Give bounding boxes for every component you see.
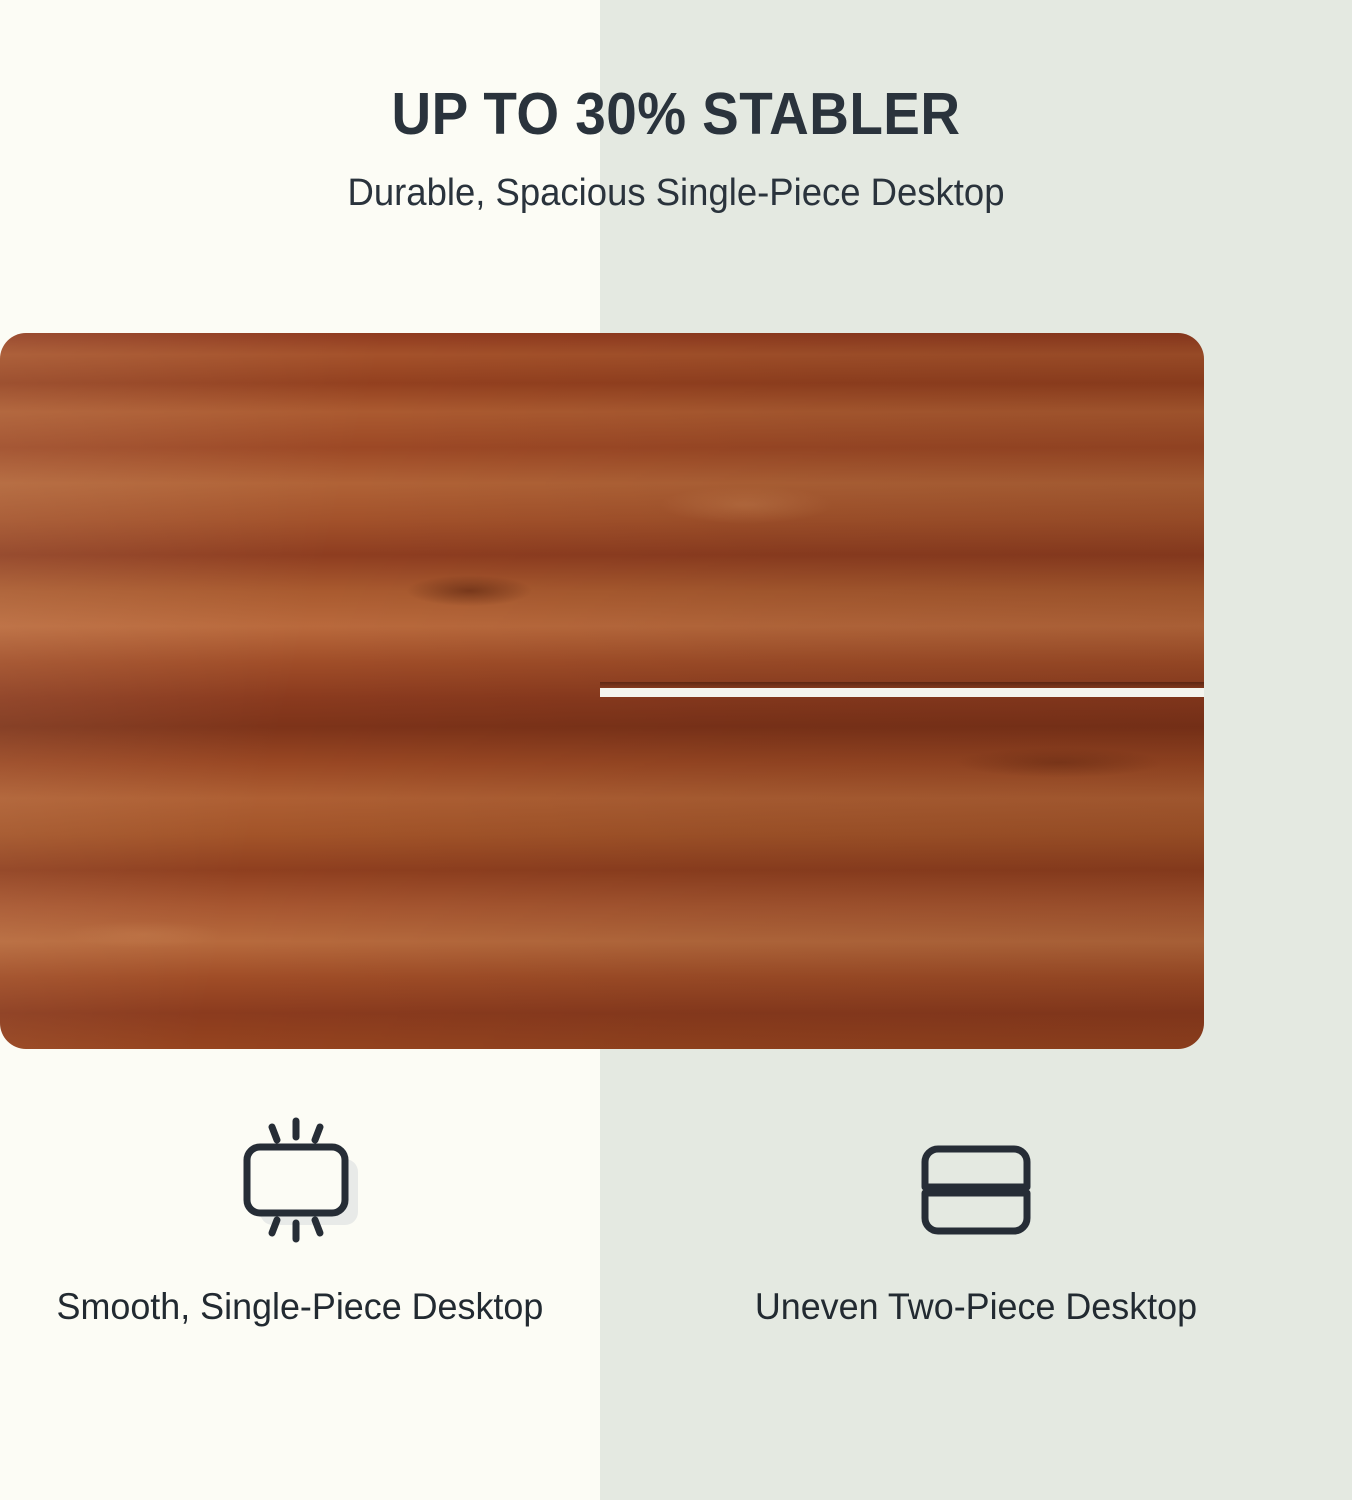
page-title: UP TO 30% STABLER	[47, 0, 1304, 146]
page-subtitle: Durable, Spacious Single-Piece Desktop	[27, 146, 1325, 217]
comparison-column-two-piece: Uneven Two-Piece Desktop	[600, 1049, 1352, 1500]
comparison-column-single-piece: Smooth, Single-Piece Desktop	[0, 1049, 600, 1500]
comparison-caption-single-piece: Smooth, Single-Piece Desktop	[57, 1265, 544, 1330]
comparison-caption-two-piece: Uneven Two-Piece Desktop	[755, 1265, 1197, 1330]
two-piece-desktop-icon	[901, 1115, 1051, 1265]
product-feature-panel: UP TO 30% STABLER Durable, Spacious Sing…	[0, 0, 1352, 1500]
desktop-seam-gap	[600, 688, 1204, 697]
single-piece-desktop-icon	[225, 1115, 375, 1265]
comparison-row: Smooth, Single-Piece Desktop Uneven Two-…	[0, 1049, 1352, 1500]
headline-block: UP TO 30% STABLER Durable, Spacious Sing…	[0, 0, 1352, 217]
